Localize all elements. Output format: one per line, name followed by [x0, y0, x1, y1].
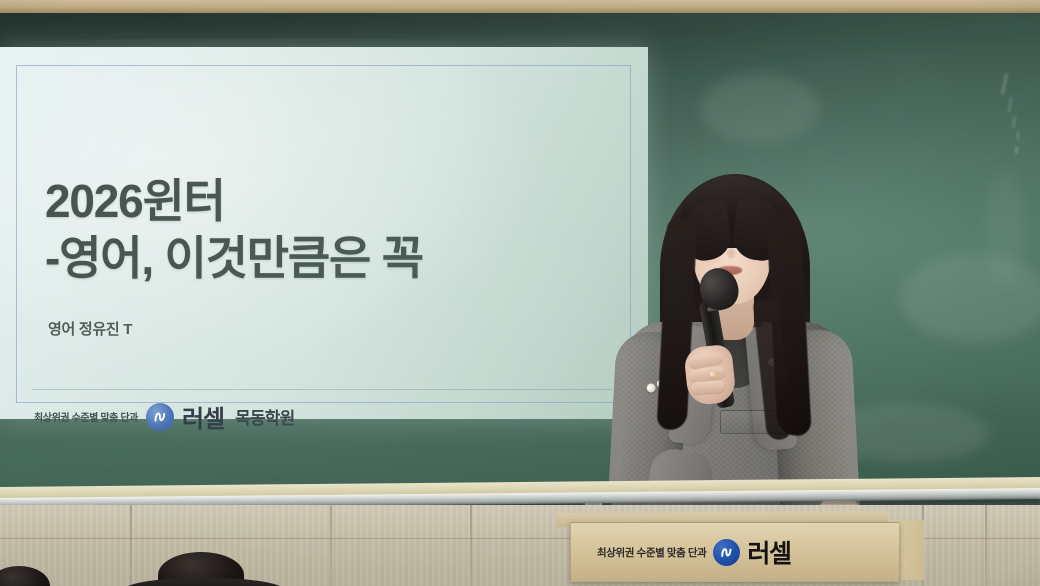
lecture-video-frame: 2026윈터-영어, 이것만큼은 꼭 영어 정유진 T 최상위권 수준별 맞춤 …	[0, 0, 1040, 586]
slide-title: 2026윈터-영어, 이것만큼은 꼭	[45, 173, 423, 287]
russell-n-logo-icon	[713, 539, 740, 566]
projected-slide: 2026윈터-영어, 이것만큼은 꼭 영어 정유진 T 최상위권 수준별 맞춤 …	[0, 47, 648, 419]
slide-title-line1: 2026윈터	[45, 175, 225, 227]
podium-tagline: 최상위권 수준별 맞춤 단과	[597, 545, 706, 560]
slide-footer-tagline: 최상위권 수준별 맞춤 단과	[34, 409, 138, 424]
finger-ring	[710, 372, 719, 376]
slide-footer-divider	[32, 389, 612, 390]
nose	[727, 248, 735, 258]
ceiling-trim	[0, 0, 1040, 13]
slide-subtitle: 영어 정유진 T	[48, 318, 132, 339]
slide-title-line2: -영어, 이것만큼은 꼭	[45, 232, 423, 284]
podium-brand-name: 러셀	[747, 534, 790, 570]
slide-brand-name: 러셀	[182, 399, 224, 434]
slide-footer: 최상위권 수준별 맞춤 단과 러셀 목동학원	[34, 399, 294, 434]
russell-n-logo-icon	[146, 403, 174, 431]
slide-brand-branch: 목동학원	[235, 404, 294, 429]
podium-front-panel: 최상위권 수준별 맞춤 단과 러셀	[570, 522, 900, 582]
